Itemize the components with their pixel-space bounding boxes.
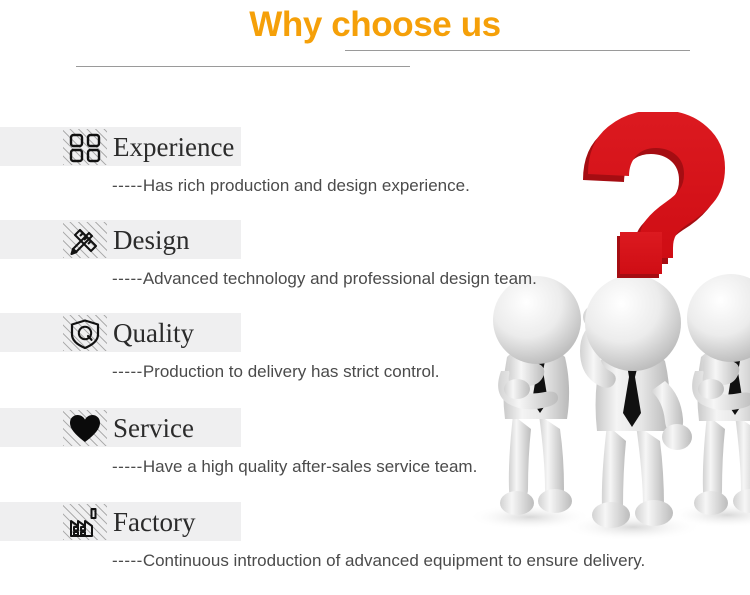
feature-label: Design: [113, 221, 190, 259]
desc-text: Has rich production and design experienc…: [143, 176, 470, 195]
desc-dashes: -----: [112, 551, 143, 570]
desc-text: Production to delivery has strict contro…: [143, 362, 440, 381]
desc-dashes: -----: [112, 176, 143, 195]
header-rule-bottom: [76, 66, 410, 67]
heart-icon: [63, 410, 107, 446]
why-choose-us-page: Why choose us Experience -----Has rich p…: [0, 0, 750, 595]
desc-text: Have a high quality after-sales service …: [143, 457, 478, 476]
shield-q-icon: [63, 315, 107, 351]
feature-list: Experience -----Has rich production and …: [0, 0, 750, 595]
desc-text: Advanced technology and professional des…: [143, 269, 537, 288]
grid-squares-icon: [63, 129, 107, 165]
desc-dashes: -----: [112, 269, 143, 288]
pencil-ruler-icon: [63, 222, 107, 258]
feature-description: -----Have a high quality after-sales ser…: [112, 456, 477, 478]
desc-dashes: -----: [112, 457, 143, 476]
page-title: Why choose us: [0, 3, 750, 47]
feature-description: -----Production to delivery has strict c…: [112, 361, 440, 383]
feature-description: -----Continuous introduction of advanced…: [112, 550, 645, 572]
desc-text: Continuous introduction of advanced equi…: [143, 551, 645, 570]
feature-label: Experience: [113, 128, 234, 166]
header-rule-top: [345, 50, 690, 51]
feature-label: Service: [113, 409, 194, 447]
feature-description: -----Has rich production and design expe…: [112, 175, 470, 197]
factory-icon: [63, 504, 107, 540]
desc-dashes: -----: [112, 362, 143, 381]
feature-label: Quality: [113, 314, 194, 352]
feature-description: -----Advanced technology and professiona…: [112, 268, 537, 290]
feature-label: Factory: [113, 503, 195, 541]
